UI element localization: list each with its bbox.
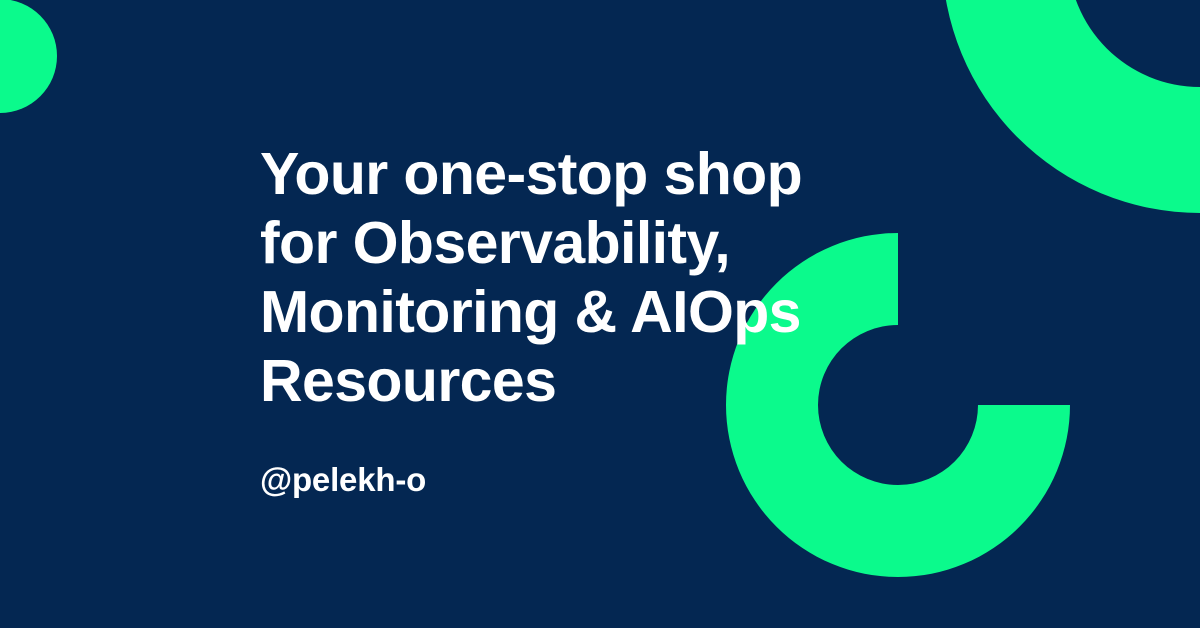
social-share-card: Your one-stop shop for Observability, Mo… (0, 0, 1200, 628)
author-handle: @pelekh-o (260, 460, 940, 500)
card-content: Your one-stop shop for Observability, Mo… (260, 140, 940, 500)
page-title: Your one-stop shop for Observability, Mo… (260, 140, 940, 416)
half-circle-top-left-icon (0, 0, 57, 113)
ring-arc-top-right-icon (942, 0, 1200, 213)
